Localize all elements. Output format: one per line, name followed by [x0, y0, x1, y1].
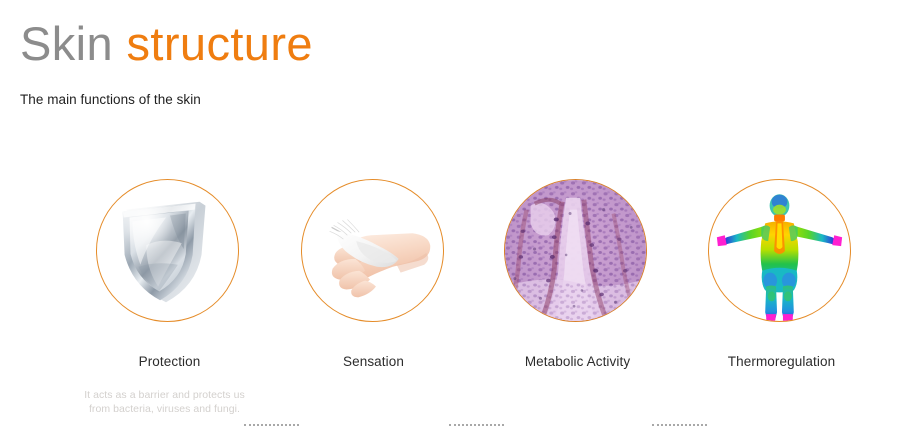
hand-feather-icon [302, 180, 443, 321]
page-title: Skin structure [20, 18, 880, 71]
step-circle-metabolic-activity[interactable] [504, 179, 647, 322]
step-protection[interactable] [96, 176, 244, 324]
step-circle-protection[interactable] [96, 179, 239, 322]
steps-row [0, 176, 902, 328]
step-label-sensation: Sensation [276, 354, 471, 369]
step-label-thermoregulation: Thermoregulation [684, 354, 879, 369]
step-metabolic-activity[interactable] [504, 176, 652, 324]
connector-3 [652, 424, 707, 428]
step-thermoregulation[interactable] [708, 176, 856, 324]
step-circle-sensation[interactable] [301, 179, 444, 322]
thermogram-body-icon [709, 180, 850, 321]
connector-2 [449, 424, 504, 428]
page-title-space [113, 17, 126, 70]
step-label-metabolic-activity: Metabolic Activity [480, 354, 675, 369]
step-label-protection: Protection [72, 354, 267, 369]
page-title-accent: structure [127, 17, 313, 70]
slide-header: Skin structure [20, 18, 880, 71]
page-title-main: Skin [20, 17, 113, 70]
shield-icon [97, 180, 238, 321]
step-sensation[interactable] [301, 176, 449, 324]
histology-micrograph-icon [505, 180, 646, 321]
page-subtitle: The main functions of the skin [20, 92, 201, 107]
connector-1 [244, 424, 299, 428]
step-description-protection: It acts as a barrier and protects us fro… [82, 388, 247, 417]
step-circle-thermoregulation[interactable] [708, 179, 851, 322]
